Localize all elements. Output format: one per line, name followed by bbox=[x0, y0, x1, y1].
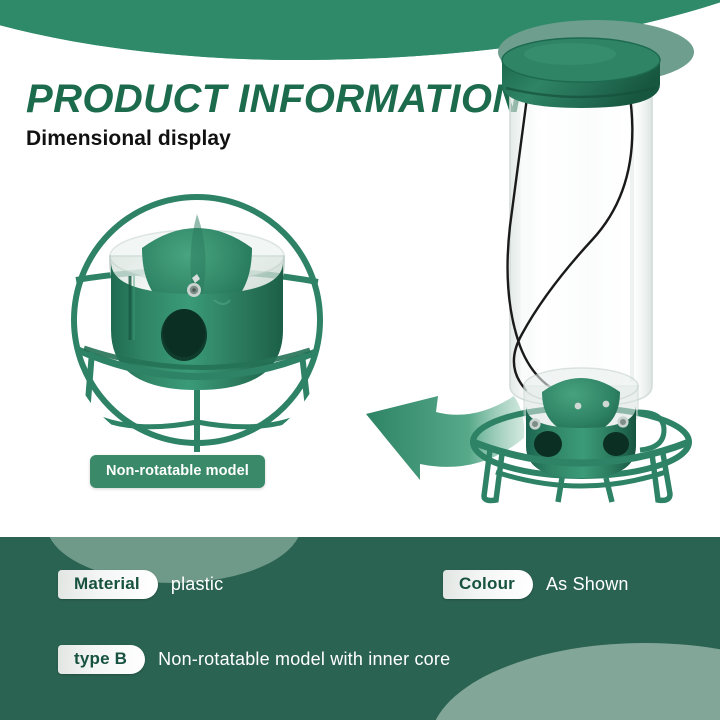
spec-row-colour: Colour As Shown bbox=[443, 570, 629, 599]
spec-row-type: type B Non-rotatable model with inner co… bbox=[58, 645, 450, 674]
spec-value-material: plastic bbox=[171, 574, 223, 595]
spec-tag-colour: Colour bbox=[443, 570, 533, 599]
specs-rows: Material plastic Colour As Shown type B … bbox=[0, 0, 720, 720]
spec-value-colour: As Shown bbox=[546, 574, 629, 595]
spec-value-type: Non-rotatable model with inner core bbox=[158, 649, 450, 670]
spec-row-material: Material plastic bbox=[58, 570, 223, 599]
spec-tag-material: Material bbox=[58, 570, 158, 599]
spec-tag-type: type B bbox=[58, 645, 145, 674]
product-information-page: PRODUCT INFORMATION Dimensional display bbox=[0, 0, 720, 720]
